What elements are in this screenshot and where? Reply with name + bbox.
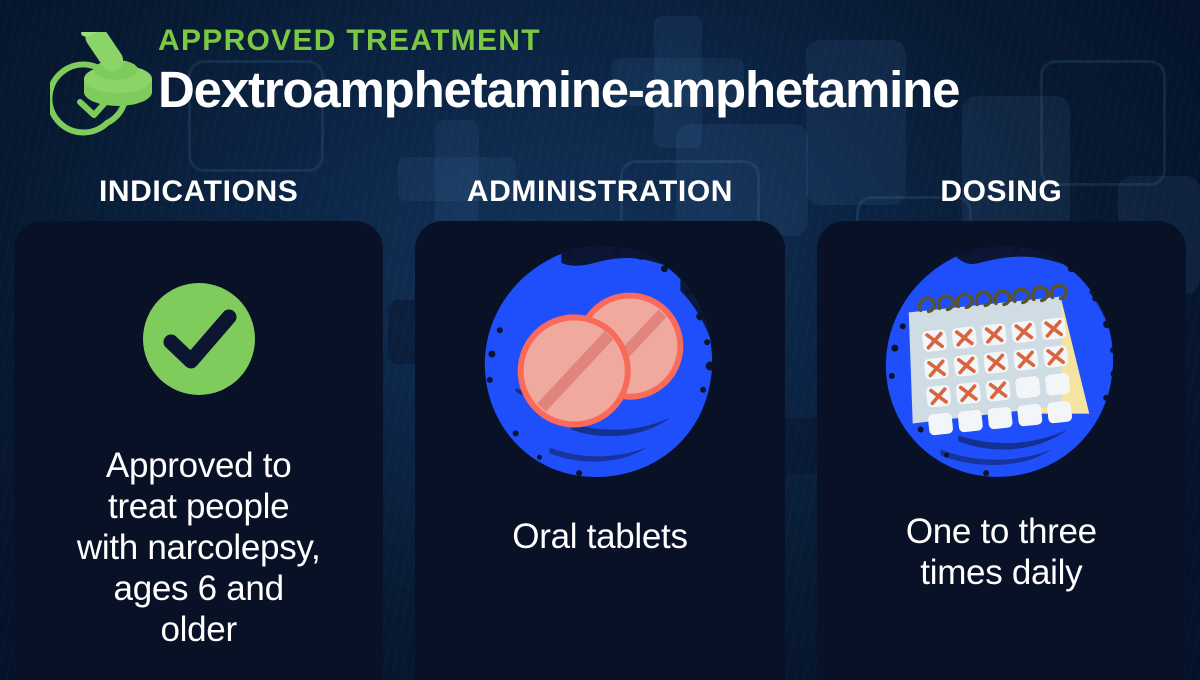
caption-indications: Approved to treat people with narcolepsy… xyxy=(69,445,329,650)
column-group: INDICATIONS Approved to treat people wit… xyxy=(0,175,1200,680)
caption-administration: Oral tablets xyxy=(504,517,695,557)
media-indications xyxy=(14,279,383,399)
card-indications: Approved to treat people with narcolepsy… xyxy=(14,221,383,680)
media-administration xyxy=(415,239,784,487)
section-header-dosing: DOSING xyxy=(940,175,1062,221)
section-header-indications: INDICATIONS xyxy=(99,175,298,221)
green-check-circle-icon xyxy=(139,279,259,399)
eyebrow-label: APPROVED TREATMENT xyxy=(158,24,1198,58)
card-dosing: One to three times daily xyxy=(817,221,1186,680)
media-dosing xyxy=(817,239,1186,487)
header-text-block: APPROVED TREATMENT Dextroamphetamine-amp… xyxy=(158,24,1198,119)
card-administration: Oral tablets xyxy=(415,221,784,680)
page-title: Dextroamphetamine-amphetamine xyxy=(158,61,1198,119)
caption-dosing: One to three times daily xyxy=(898,511,1105,593)
approved-stamp-icon xyxy=(50,32,168,138)
header: APPROVED TREATMENT Dextroamphetamine-amp… xyxy=(0,0,1200,150)
column-indications: INDICATIONS Approved to treat people wit… xyxy=(14,175,383,680)
column-dosing: DOSING xyxy=(817,175,1186,680)
infographic-canvas: APPROVED TREATMENT Dextroamphetamine-amp… xyxy=(0,0,1200,680)
two-tablets-icon xyxy=(476,239,724,487)
desk-calendar-icon xyxy=(877,239,1125,487)
column-administration: ADMINISTRATION xyxy=(415,175,784,680)
section-header-administration: ADMINISTRATION xyxy=(467,175,733,221)
